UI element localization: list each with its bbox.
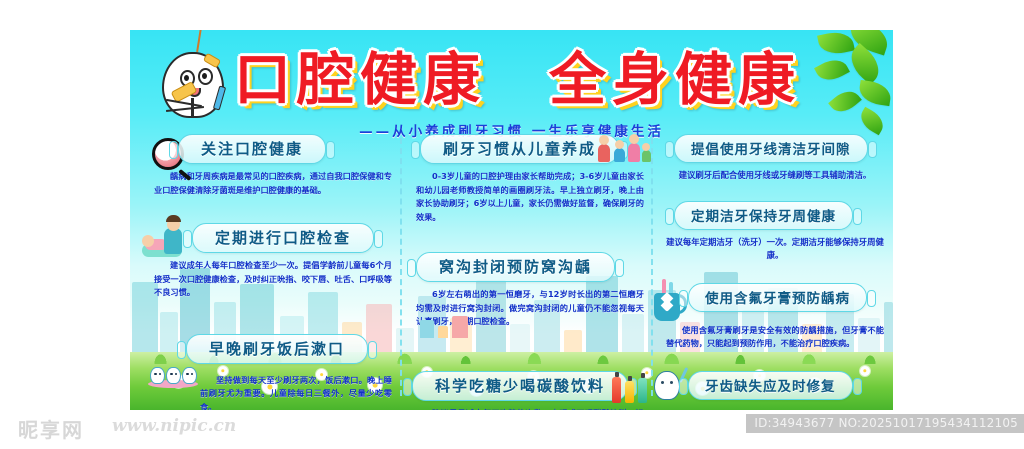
card-fluoride-toothpaste: 使用含氟牙膏预防龋病 使用含氟牙膏刷牙是安全有效的防龋措施，但牙膏不能替代药物，… — [660, 283, 888, 351]
page-title: 口腔健康 全身健康 — [234, 38, 884, 122]
card-heading: 牙齿缺失应及时修复 — [705, 379, 836, 395]
card-heading: 使用含氟牙膏预防龋病 — [705, 291, 850, 307]
card-heading: 刷牙习惯从儿童养成 — [443, 140, 596, 158]
card-heading: 定期洁牙保持牙周健康 — [691, 209, 836, 225]
card-regular-cleaning: 定期洁牙保持牙周健康 建议每年定期洁牙（洗牙）一次。定期洁牙能够保持牙周健康。 — [660, 201, 888, 263]
card-heading-ribbon: 窝沟封闭预防窝沟龋 — [416, 252, 615, 282]
watermark-logo: 昵享网 — [18, 414, 84, 443]
card-body: 建议每年定期洁牙（洗牙）一次。定期洁牙能够保持牙周健康。 — [660, 236, 888, 263]
card-child-brushing-habit: 刷牙习惯从儿童养成 0-3岁儿童的口腔护理由家长帮助完成；3-6岁儿童由家长和幼… — [410, 134, 648, 224]
column-right: 提倡使用牙线清洁牙间隙 建议刷牙后配合使用牙线或牙缝刷等工具辅助清洁。 定期洁牙… — [660, 134, 888, 410]
column-left: 关注口腔健康 龋病和牙周疾病是最常见的口腔疾病，通过自我口腔保健和专业口腔保健清… — [148, 134, 396, 410]
poster-canvas: 口腔健康 全身健康 ——从小养成刷牙习惯 一生乐享健康生活 关注口腔健康 龋病和… — [130, 30, 893, 410]
sealant-tools-icon — [420, 312, 478, 338]
card-heading-ribbon: 提倡使用牙线清洁牙间隙 — [674, 134, 868, 163]
soda-bottles-icon — [610, 373, 654, 403]
family-brushing-icon — [596, 128, 652, 162]
bandaged-tooth-mascot-icon — [154, 42, 230, 122]
card-body: 建议刷牙后配合使用牙线或牙缝刷等工具辅助清洁。 — [660, 169, 888, 183]
card-heading: 关注口腔健康 — [201, 140, 303, 158]
card-heading: 早晚刷牙饭后漱口 — [209, 340, 345, 358]
card-heading-ribbon: 刷牙习惯从儿童养成 — [420, 134, 619, 164]
column-middle: 刷牙习惯从儿童养成 0-3岁儿童的口腔护理由家长帮助完成；3-6岁儿童由家长和幼… — [410, 134, 648, 410]
card-heading-ribbon: 牙齿缺失应及时修复 — [688, 371, 853, 400]
card-sugar-and-soda: 科学吃糖少喝碳酸饮料 建议尽量减少每天吃糖的次数，少喝或不喝碳酸饮料。进食后用清… — [410, 371, 648, 411]
watermark-id: ID:34943677 NO:20251017195434112105 — [746, 414, 1024, 433]
card-regular-checkup: 定期进行口腔检查 建议成年人每年口腔检查至少一次。提倡学龄前儿童每6个月接受一次… — [148, 223, 396, 300]
card-heading: 定期进行口腔检查 — [215, 229, 351, 247]
card-tooth-loss-repair: 牙齿缺失应及时修复 不论失牙多少，都应在拔牙2-3个月后及时进行义齿修复。对于配… — [660, 371, 888, 411]
card-body: 建议尽量减少每天吃糖的次数，少喝或不喝碳酸饮料。进食后用清水漱口清除食物残渣，或… — [410, 407, 648, 411]
card-heading-ribbon: 关注口腔健康 — [178, 134, 326, 164]
card-heading: 窝沟封闭预防窝沟龋 — [439, 258, 592, 276]
card-pit-fissure-sealant: 窝沟封闭预防窝沟龋 6岁左右萌出的第一恒磨牙，与12岁时长出的第二恒磨牙均需及时… — [410, 252, 648, 329]
card-heading: 科学吃糖少喝碳酸饮料 — [435, 377, 605, 395]
card-body: 使用含氟牙膏刷牙是安全有效的防龋措施，但牙膏不能替代药物，只能起到预防作用，不能… — [660, 324, 888, 351]
card-heading-ribbon: 使用含氟牙膏预防龋病 — [688, 283, 867, 312]
column-divider — [651, 138, 653, 396]
card-heading-ribbon: 科学吃糖少喝碳酸饮料 — [412, 371, 628, 401]
card-brush-and-rinse: 早晚刷牙饭后漱口 坚持做到每天至少刷牙两次，饭后漱口。晚上睡前刷牙尤为重要。儿童… — [148, 334, 396, 411]
card-heading-ribbon: 早晚刷牙饭后漱口 — [186, 334, 368, 364]
poster-header: 口腔健康 全身健康 ——从小养成刷牙习惯 一生乐享健康生活 — [130, 36, 893, 122]
three-teeth-icon — [148, 364, 198, 388]
card-heading: 提倡使用牙线清洁牙间隙 — [691, 142, 851, 158]
card-body: 0-3岁儿童的口腔护理由家长帮助完成；3-6岁儿童由家长和幼儿园老师教授简单的画… — [410, 170, 648, 224]
card-oral-health-attention: 关注口腔健康 龋病和牙周疾病是最常见的口腔疾病，通过自我口腔保健和专业口腔保健清… — [148, 134, 396, 197]
column-divider — [400, 138, 402, 396]
card-heading-ribbon: 定期进行口腔检查 — [192, 223, 374, 253]
card-dental-floss: 提倡使用牙线清洁牙间隙 建议刷牙后配合使用牙线或牙缝刷等工具辅助清洁。 — [660, 134, 888, 183]
card-body: 建议成年人每年口腔检查至少一次。提倡学龄前儿童每6个月接受一次口腔健康检查，及时… — [148, 259, 396, 300]
card-body: 不论失牙多少，都应在拔牙2-3个月后及时进行义齿修复。对于配戴活动假牙（可摘义齿… — [660, 410, 888, 411]
watermark-url: www.nipic.cn — [112, 416, 236, 436]
card-heading-ribbon: 定期洁牙保持牙周健康 — [674, 201, 853, 230]
